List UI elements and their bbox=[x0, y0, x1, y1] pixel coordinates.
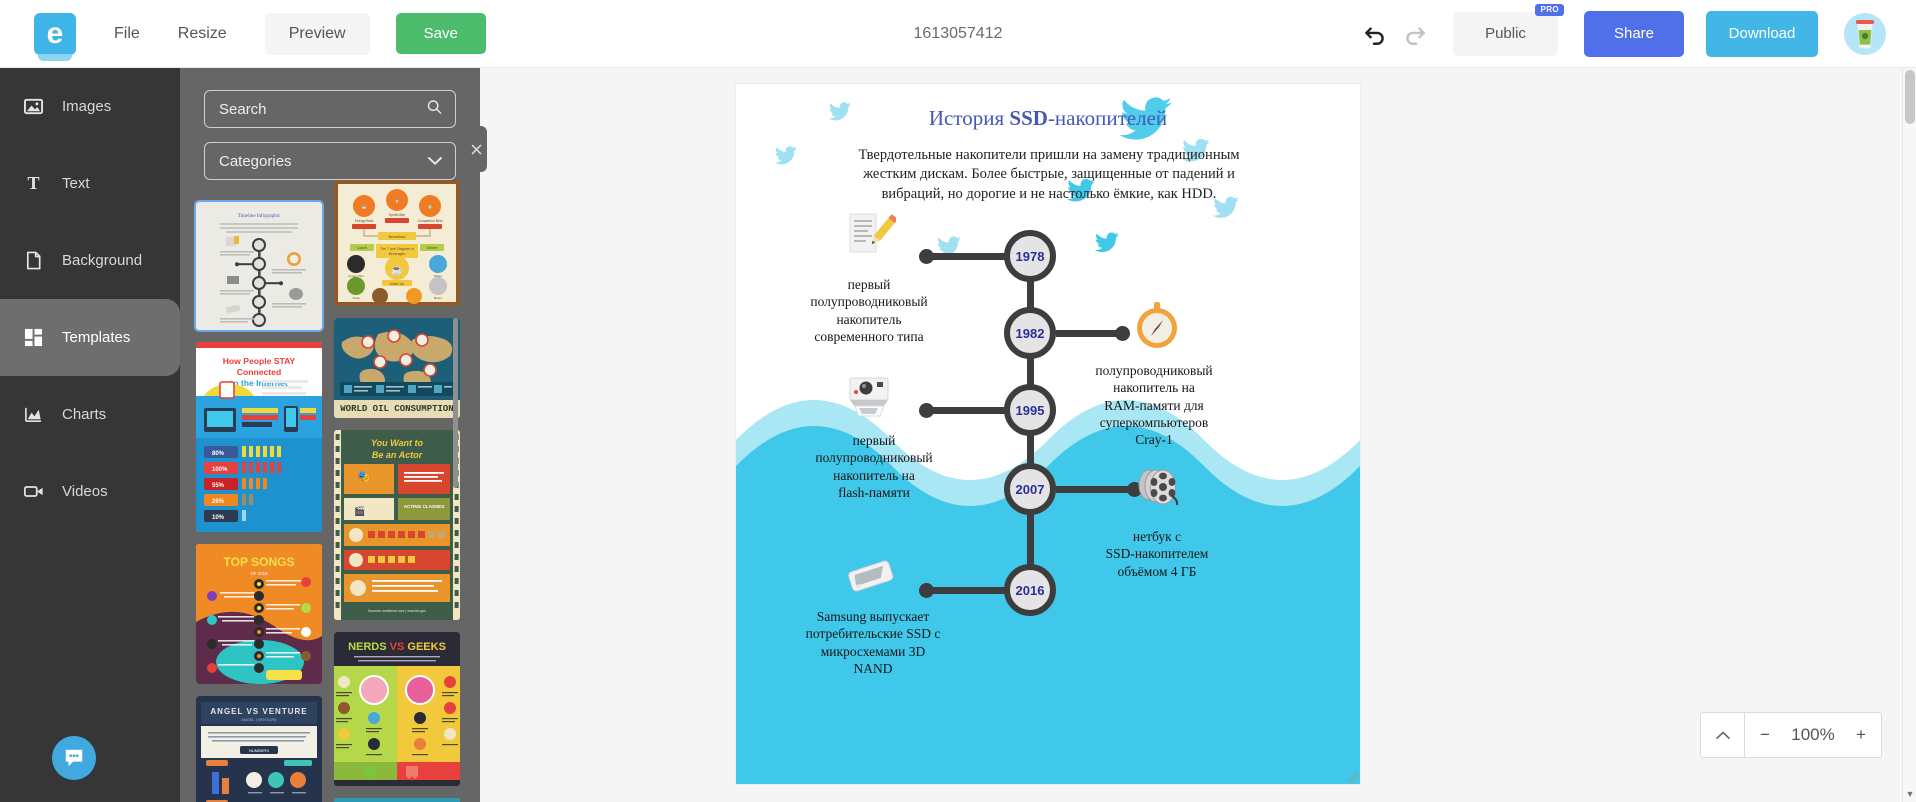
svg-text:WORLD OIL CONSUMPTION: WORLD OIL CONSUMPTION bbox=[340, 404, 453, 414]
svg-text:Sources: workforce.com | www.b: Sources: workforce.com | www.bls.gov bbox=[368, 609, 426, 613]
sidebar-item-label: Videos bbox=[62, 483, 108, 500]
svg-text:☕: ☕ bbox=[391, 263, 403, 276]
svg-text:Make Up: Make Up bbox=[390, 282, 404, 286]
chat-bubble-icon bbox=[63, 747, 85, 769]
compass-icon bbox=[1133, 302, 1181, 350]
timeline-node-1995[interactable]: 1995 bbox=[1004, 384, 1056, 436]
timeline-caption-1982: полупроводниковыйнакопитель наRAM-памяти… bbox=[1068, 362, 1240, 448]
sidebar-item-videos[interactable]: Videos bbox=[0, 453, 180, 530]
sidebar-item-charts[interactable]: Charts bbox=[0, 376, 180, 453]
svg-text:Spirits Bite: Spirits Bite bbox=[389, 213, 405, 217]
sidebar-item-label: Templates bbox=[62, 329, 130, 346]
svg-text:Energy Best: Energy Best bbox=[355, 219, 374, 223]
share-button[interactable]: Share bbox=[1584, 11, 1684, 57]
timeline-caption-1978: первыйполупроводниковыйнакопительсовреме… bbox=[784, 276, 954, 345]
timeline-node-2016[interactable]: 2016 bbox=[1004, 564, 1056, 616]
film-reel-icon bbox=[1132, 464, 1184, 510]
page-scrollbar[interactable]: ▲ ▼ bbox=[1902, 68, 1916, 802]
svg-text:Lunch: Lunch bbox=[357, 246, 367, 250]
template-john-doe[interactable]: John Doe JOB TITLE Your Picture bbox=[334, 798, 460, 802]
chart-icon bbox=[24, 405, 54, 424]
search-icon[interactable] bbox=[427, 100, 442, 119]
svg-text:TOP SONGS: TOP SONGS bbox=[224, 555, 295, 569]
svg-text:NUMBERS: NUMBERS bbox=[249, 748, 269, 753]
categories-select[interactable]: Categories bbox=[204, 142, 456, 180]
instant-camera-icon bbox=[844, 372, 894, 418]
svg-text:Cream Pilot: Cream Pilot bbox=[348, 274, 364, 278]
close-icon bbox=[471, 144, 482, 155]
redo-icon bbox=[1402, 21, 1428, 47]
sidebar-item-images[interactable]: Images bbox=[0, 68, 180, 145]
template-top-songs[interactable]: TOP SONGS OF 2018 bbox=[196, 544, 322, 684]
zoom-control: − 100% + bbox=[1700, 712, 1882, 758]
timeline-arm bbox=[1056, 330, 1122, 337]
svg-text:80%: 80% bbox=[212, 451, 225, 457]
svg-text:ANGEL VS VENTURE: ANGEL VS VENTURE bbox=[210, 707, 307, 716]
timeline-node-1982[interactable]: 1982 bbox=[1004, 307, 1056, 359]
avatar[interactable] bbox=[1844, 13, 1886, 55]
search-input-value: Search bbox=[219, 101, 267, 118]
save-button[interactable]: Save bbox=[396, 13, 486, 54]
grid-icon bbox=[24, 328, 54, 347]
timeline-year: 1978 bbox=[1016, 249, 1045, 264]
timeline-node-1978[interactable]: 1978 bbox=[1004, 230, 1056, 282]
note-and-pencil-icon bbox=[844, 210, 896, 258]
chat-button[interactable] bbox=[52, 736, 96, 780]
svg-text:🎬: 🎬 bbox=[354, 505, 365, 516]
sidebar-item-label: Text bbox=[62, 175, 90, 192]
app-logo[interactable]: e bbox=[34, 13, 76, 55]
svg-text:Soda: Soda bbox=[352, 296, 359, 300]
top-toolbar: e File Resize Preview Save 1613057412 Pu… bbox=[0, 0, 1916, 68]
sidebar-item-label: Background bbox=[62, 252, 142, 269]
svg-text:Companion Best: Companion Best bbox=[417, 219, 442, 223]
timeline-arm bbox=[926, 407, 1008, 414]
infographic-title-part2: -накопителей bbox=[1048, 106, 1167, 130]
svg-text:Beers: Beers bbox=[434, 296, 442, 300]
svg-text:OF 2018: OF 2018 bbox=[250, 571, 268, 576]
search-input[interactable]: Search bbox=[204, 90, 456, 128]
templates-panel: Search Categories Timeline Infographic bbox=[180, 68, 480, 802]
visibility-selector[interactable]: Public PRO bbox=[1453, 12, 1558, 56]
image-icon bbox=[24, 97, 54, 116]
chevron-up-icon bbox=[1716, 731, 1730, 740]
video-icon bbox=[24, 482, 54, 501]
svg-text:Timeline Infographic: Timeline Infographic bbox=[238, 214, 281, 219]
timeline-caption-2007: нетбук сSSD-накопителемобъёмом 4 ГБ bbox=[1074, 528, 1240, 580]
zoom-collapse-button[interactable] bbox=[1701, 713, 1745, 757]
sidebar-item-label: Charts bbox=[62, 406, 106, 423]
template-actor[interactable]: You Want to Be an Actor 🎭 🎬 ACTING CLASS… bbox=[334, 430, 460, 620]
template-angel-vs-venture[interactable]: ANGEL VS VENTURE ANGEL | VENTURE NUMBERS bbox=[196, 696, 322, 802]
template-column-right: ☕🥤🍵 Energy BestSpirits BiteCompanion Bes… bbox=[334, 180, 460, 802]
canvas-area[interactable]: История SSD-накопителей Твердотельные на… bbox=[480, 68, 1916, 802]
svg-text:Breakfast: Breakfast bbox=[389, 234, 407, 239]
svg-text:T: T bbox=[27, 174, 39, 193]
svg-text:The 7 Icon Diagram of: The 7 Icon Diagram of bbox=[380, 247, 414, 251]
timeline-arm-dot bbox=[1115, 326, 1130, 341]
timeline-arm-dot bbox=[919, 403, 934, 418]
svg-text:ACTING CLASSES: ACTING CLASSES bbox=[404, 504, 445, 509]
infographic-title: История SSD-накопителей bbox=[736, 106, 1360, 131]
zoom-level-value: 100% bbox=[1785, 713, 1841, 757]
svg-text:Connected: Connected bbox=[237, 367, 281, 377]
svg-text:You Want to: You Want to bbox=[371, 438, 423, 448]
timeline-arm-dot bbox=[919, 583, 934, 598]
twitter-bird-icon bbox=[774, 146, 798, 166]
zoom-out-button[interactable]: − bbox=[1745, 713, 1785, 757]
template-internet[interactable]: How People STAY Connected to the Interne… bbox=[196, 342, 322, 532]
timeline-year: 1982 bbox=[1016, 326, 1045, 341]
svg-text:26%: 26% bbox=[212, 499, 225, 505]
preview-button[interactable]: Preview bbox=[265, 13, 370, 55]
timeline-year: 2016 bbox=[1016, 583, 1045, 598]
infographic-intro: Твердотельные накопители пришли на замен… bbox=[854, 146, 1244, 204]
svg-text:🥤: 🥤 bbox=[395, 198, 400, 203]
text-icon: T bbox=[24, 174, 54, 193]
menu-resize[interactable]: Resize bbox=[178, 25, 227, 43]
twitter-bird-icon bbox=[1094, 232, 1120, 254]
timeline-arm bbox=[1056, 486, 1134, 493]
chevron-down-icon bbox=[428, 153, 442, 170]
scrollbar-thumb[interactable] bbox=[1905, 70, 1915, 124]
visibility-label: Public bbox=[1485, 25, 1526, 42]
undo-button[interactable] bbox=[1355, 14, 1395, 54]
timeline-caption-1995: первыйполупроводниковыйнакопитель наflas… bbox=[794, 432, 954, 501]
timeline-arm bbox=[926, 253, 1008, 260]
menu-file[interactable]: File bbox=[114, 25, 140, 43]
canvas-resize-handle[interactable] bbox=[1346, 770, 1358, 782]
sidebar-item-label: Images bbox=[62, 98, 111, 115]
template-grid: Timeline Infographic bbox=[196, 202, 464, 802]
categories-label: Categories bbox=[219, 153, 292, 170]
timeline-year: 2007 bbox=[1016, 482, 1045, 497]
template-beverages[interactable]: ☕🥤🍵 Energy BestSpirits BiteCompanion Bes… bbox=[334, 180, 460, 306]
infographic-title-ssd: SSD bbox=[1009, 106, 1048, 130]
timeline-caption-2016: Samsung выпускаетпотребительские SSD сми… bbox=[778, 608, 968, 677]
svg-text:🎭: 🎭 bbox=[357, 471, 371, 483]
toolbar-right-group: Public PRO Share Download bbox=[1355, 11, 1916, 57]
sidebar-item-background[interactable]: Background bbox=[0, 222, 180, 299]
svg-text:☕: ☕ bbox=[362, 204, 367, 209]
scroll-down-icon[interactable]: ▼ bbox=[1903, 786, 1916, 802]
panel-collapse-button[interactable] bbox=[465, 126, 487, 172]
infographic-title-part1: История bbox=[929, 106, 1010, 130]
svg-text:NERDS VS GEEKS: NERDS VS GEEKS bbox=[348, 641, 446, 653]
svg-text:ANGEL | VENTURE: ANGEL | VENTURE bbox=[241, 717, 277, 722]
redo-button[interactable] bbox=[1395, 14, 1435, 54]
undo-icon bbox=[1362, 21, 1388, 47]
page-icon bbox=[24, 251, 54, 270]
svg-text:Be an Actor: Be an Actor bbox=[372, 450, 423, 460]
svg-text:Water: Water bbox=[434, 274, 442, 278]
panel-scrollbar[interactable] bbox=[453, 318, 458, 488]
timeline-node-2007[interactable]: 2007 bbox=[1004, 463, 1056, 515]
template-timeline-infographic[interactable]: Timeline Infographic bbox=[196, 202, 322, 330]
svg-text:Dinner: Dinner bbox=[427, 246, 438, 250]
download-button[interactable]: Download bbox=[1706, 11, 1818, 57]
template-column-left: Timeline Infographic bbox=[196, 202, 322, 802]
sidebar-item-text[interactable]: T Text bbox=[0, 145, 180, 222]
app-logo-letter: e bbox=[47, 19, 64, 49]
svg-text:55%: 55% bbox=[212, 483, 225, 489]
svg-text:10%: 10% bbox=[212, 515, 225, 521]
zoom-in-button[interactable]: + bbox=[1841, 713, 1881, 757]
sidebar-item-templates[interactable]: Templates bbox=[0, 299, 180, 376]
svg-text:Beverages: Beverages bbox=[389, 252, 406, 256]
document-title[interactable]: 1613057412 bbox=[914, 25, 1003, 43]
timeline-arm-dot bbox=[919, 249, 934, 264]
ssd-drive-icon bbox=[844, 554, 898, 600]
design-canvas[interactable]: История SSD-накопителей Твердотельные на… bbox=[736, 84, 1360, 784]
svg-text:How People STAY: How People STAY bbox=[223, 356, 296, 366]
timeline-arm bbox=[926, 587, 1010, 594]
template-world-oil[interactable]: WORLD OIL CONSUMPTION bbox=[334, 318, 460, 418]
timeline-year: 1995 bbox=[1016, 403, 1045, 418]
pro-badge: PRO bbox=[1535, 4, 1564, 17]
coffee-cup-avatar-icon bbox=[1852, 19, 1878, 49]
left-sidebar: Images T Text Background Template bbox=[0, 68, 180, 802]
svg-text:100%: 100% bbox=[212, 467, 228, 473]
svg-text:🍵: 🍵 bbox=[428, 204, 433, 209]
template-nerds-vs-geeks[interactable]: NERDS VS GEEKS bbox=[334, 632, 460, 786]
